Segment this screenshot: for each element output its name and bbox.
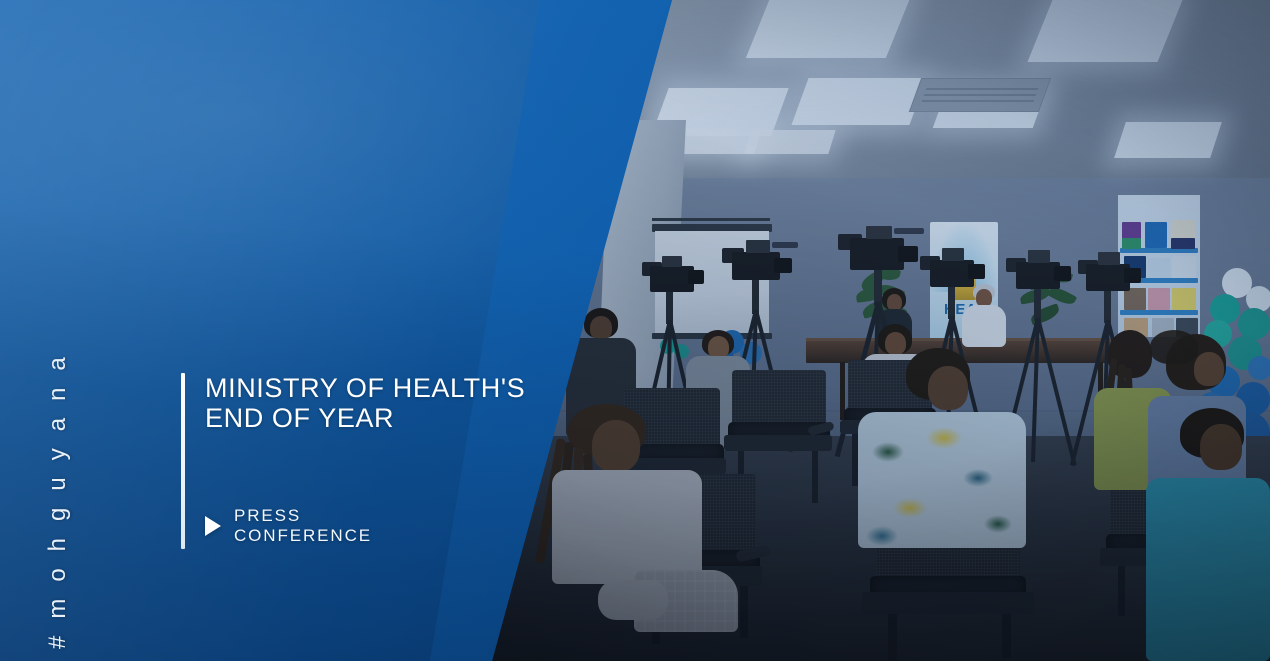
hashtag-vertical: #mohguyana (44, 289, 72, 649)
slide-canvas: HEA (0, 0, 1270, 661)
page-title: MINISTRY OF HEALTH'S END OF YEAR (205, 373, 675, 433)
subtitle-row: PRESS CONFERENCE (205, 506, 372, 546)
accent-rule (181, 373, 185, 549)
subtitle: PRESS CONFERENCE (234, 506, 372, 546)
play-triangle-icon (205, 516, 221, 536)
